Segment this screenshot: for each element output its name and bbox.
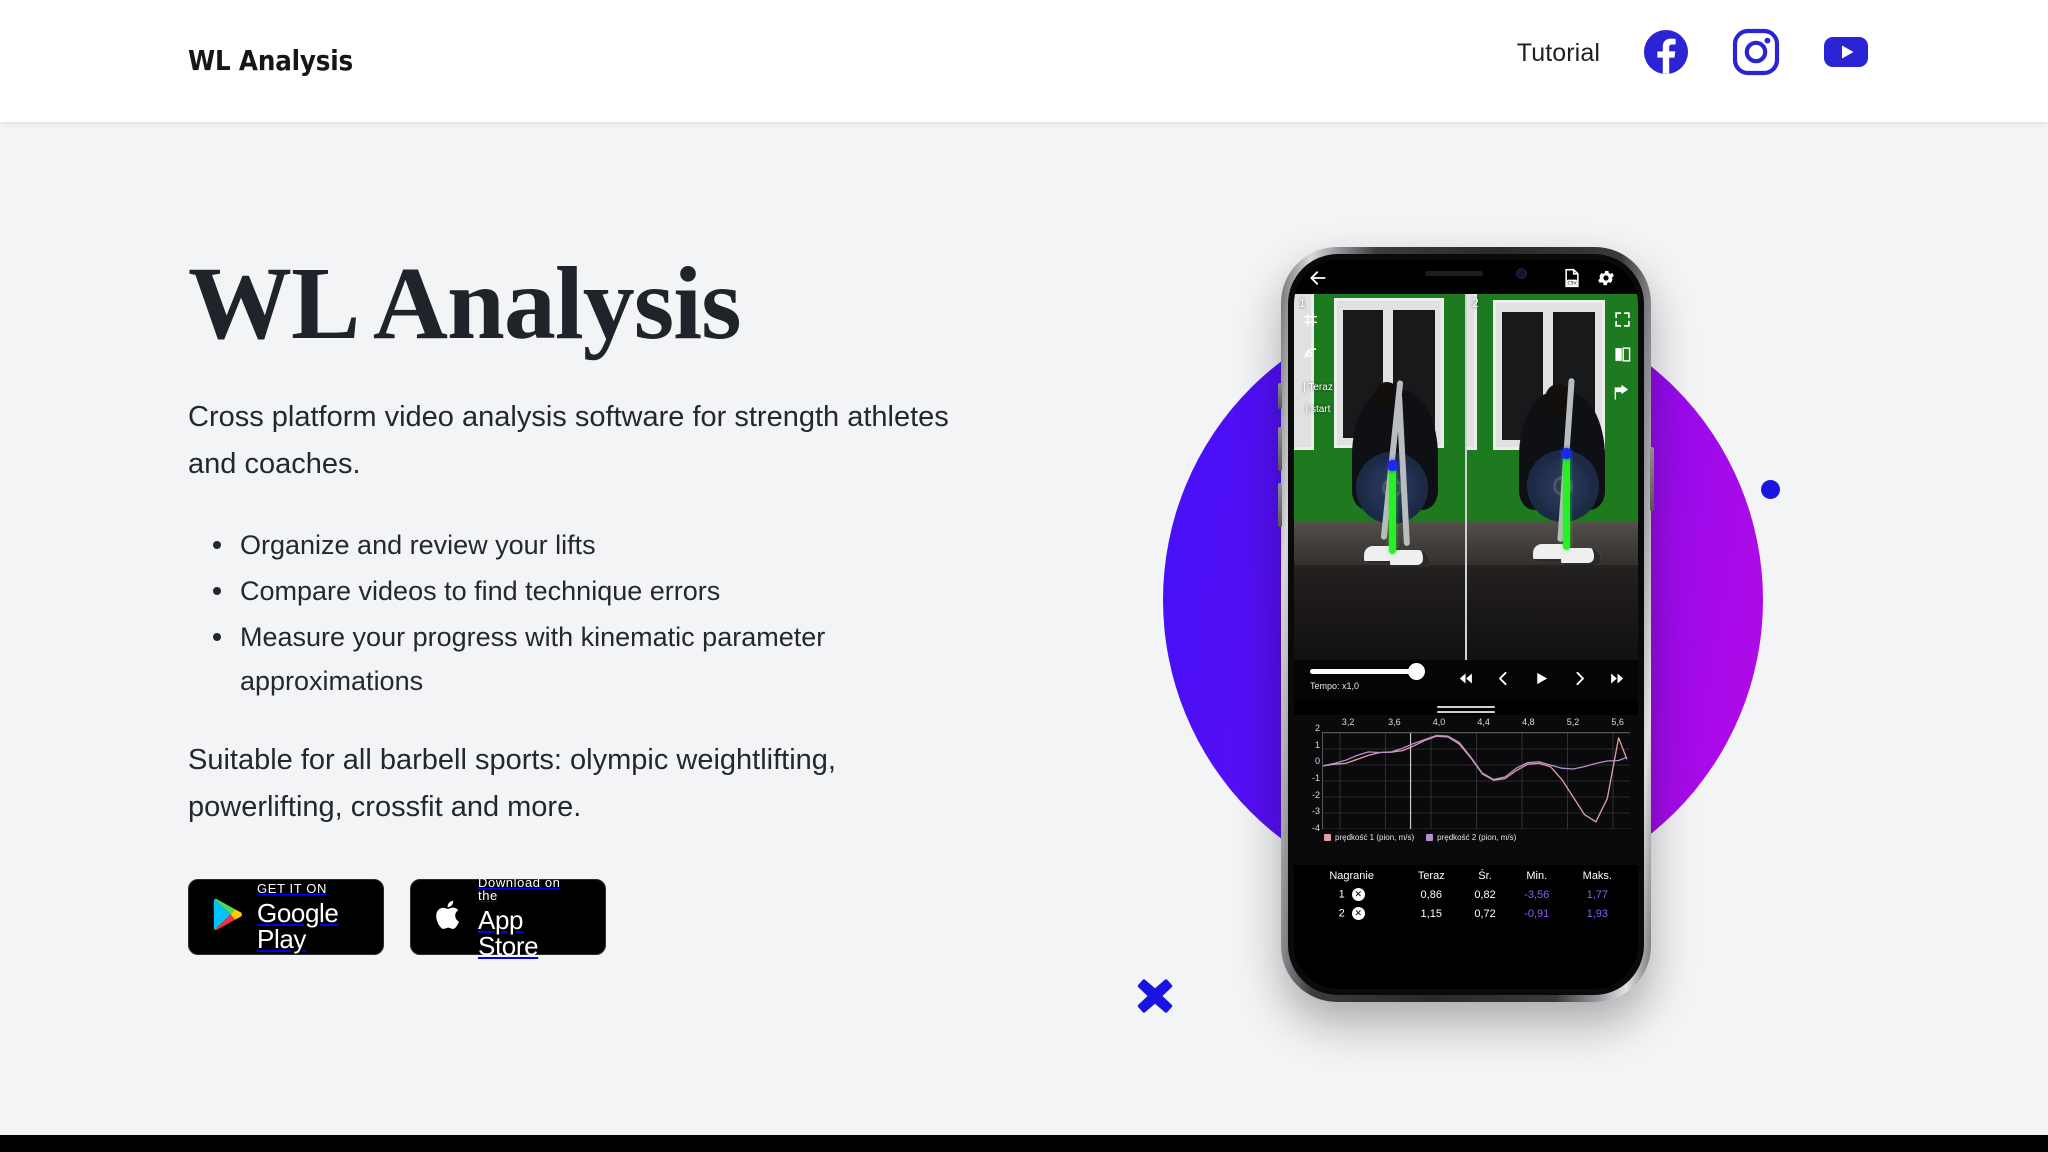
tempo-label: Tempo: x1,0 <box>1310 681 1422 691</box>
back-arrow-icon[interactable] <box>1308 268 1328 288</box>
x-tick: 4,4 <box>1477 717 1490 727</box>
column-header-nagranie: Nagranie <box>1302 868 1401 885</box>
fullscreen-icon[interactable] <box>1614 311 1631 328</box>
column-header-maks: Maks. <box>1565 868 1630 885</box>
recording-number: 1 <box>1339 888 1345 900</box>
y-tick: -4 <box>1312 823 1320 833</box>
cell-teraz: 0,86 <box>1401 885 1461 904</box>
y-tick: -1 <box>1312 773 1320 783</box>
nav-link-tutorial[interactable]: Tutorial <box>1517 37 1600 68</box>
legend-swatch <box>1324 834 1331 841</box>
stats-table: Nagranie Teraz Śr. Min. Maks. 1✕ 0,86 0,… <box>1294 868 1638 923</box>
cell-maks: 1,93 <box>1565 904 1630 923</box>
hero-note: Suitable for all barbell sports: olympic… <box>188 737 978 832</box>
instagram-icon[interactable] <box>1732 28 1780 76</box>
cell-maks: 1,77 <box>1565 885 1630 904</box>
table-header-row: Nagranie Teraz Śr. Min. Maks. <box>1302 868 1630 885</box>
phone-volume-down-button <box>1278 483 1282 527</box>
facebook-icon[interactable] <box>1642 28 1690 76</box>
bar-position-dot-1 <box>1387 460 1398 471</box>
brand-logo[interactable]: WL Analysis <box>188 44 353 77</box>
x-tick: 4,0 <box>1433 717 1446 727</box>
phone-power-button <box>1650 447 1654 511</box>
remove-recording-button[interactable]: ✕ <box>1352 907 1365 920</box>
legend-label: prędkość 2 (pion, m/s) <box>1437 833 1516 842</box>
cell-min: -3,56 <box>1509 885 1565 904</box>
nav-right-group: Tutorial <box>1517 28 1870 76</box>
hero-section: WL Analysis Cross platform video analysi… <box>0 122 2048 1135</box>
pane-number-1: 1 <box>1299 296 1306 310</box>
column-header-min: Min. <box>1509 868 1565 885</box>
tempo-slider-knob[interactable] <box>1408 663 1425 680</box>
earpiece-speaker <box>1425 271 1483 276</box>
list-item: Organize and review your lifts <box>240 523 978 567</box>
transport-buttons <box>1457 670 1626 687</box>
playback-controls-bar: Tempo: x1,0 <box>1294 660 1638 700</box>
chart-y-axis: 2 1 0 -1 -2 -3 -4 <box>1300 728 1320 828</box>
app-store-badge[interactable]: Download on the App Store <box>410 879 606 955</box>
page-title: WL Analysis <box>188 252 978 356</box>
gear-icon[interactable] <box>1596 268 1616 288</box>
bar-path-icon[interactable] <box>1302 345 1319 362</box>
table-row: 1✕ 0,86 0,82 -3,56 1,77 <box>1302 885 1630 904</box>
csv-export-icon[interactable]: CSV <box>1562 268 1582 288</box>
y-tick: 1 <box>1315 740 1320 750</box>
apple-icon <box>435 898 464 937</box>
app-store-label: Download on the App Store <box>478 876 581 959</box>
google-play-badge[interactable]: GET IT ON Google Play <box>188 879 384 955</box>
phone-screen: CSV <box>1294 260 1638 989</box>
flip-horizontal-icon[interactable] <box>1614 346 1631 363</box>
bar-path-trace-1 <box>1389 466 1396 554</box>
bar-position-dot-2 <box>1561 448 1572 459</box>
feature-list: Organize and review your lifts Compare v… <box>188 523 978 703</box>
chart-legend: prędkość 1 (pion, m/s) prędkość 2 (pion,… <box>1324 833 1516 842</box>
x-tick: 4,8 <box>1522 717 1535 727</box>
video-frame-1 <box>1294 294 1465 660</box>
overlay-label-now: | Teraz <box>1296 382 1340 394</box>
share-icon[interactable] <box>1614 384 1631 401</box>
x-tick: 5,2 <box>1567 717 1580 727</box>
video-pane-1[interactable]: 1 | Teraz | start <box>1294 294 1465 660</box>
phone-notch <box>1377 260 1555 287</box>
recording-cell: 2✕ <box>1302 904 1401 923</box>
y-tick: -2 <box>1312 790 1320 800</box>
cell-min: -0,91 <box>1509 904 1565 923</box>
skip-forward-button[interactable] <box>1609 670 1626 687</box>
phone-volume-up-button <box>1278 427 1282 471</box>
cell-sr: 0,82 <box>1461 885 1509 904</box>
skip-back-button[interactable] <box>1457 670 1474 687</box>
navbar: WL Analysis Tutorial <box>0 0 2048 122</box>
legend-label: prędkość 1 (pion, m/s) <box>1335 833 1414 842</box>
remove-recording-button[interactable]: ✕ <box>1352 888 1365 901</box>
chart-plot-area <box>1322 732 1630 829</box>
table-row: 2✕ 1,15 0,72 -0,91 1,93 <box>1302 904 1630 923</box>
legend-item-1: prędkość 1 (pion, m/s) <box>1324 833 1414 842</box>
step-back-button[interactable] <box>1495 670 1512 687</box>
x-tick: 3,2 <box>1342 717 1355 727</box>
cell-teraz: 1,15 <box>1401 904 1461 923</box>
front-camera <box>1516 268 1527 279</box>
step-forward-button[interactable] <box>1571 670 1588 687</box>
velocity-chart[interactable]: 3,2 3,6 4,0 4,4 4,8 5,2 5,6 2 1 0 -1 -2 … <box>1294 715 1638 865</box>
legend-item-2: prędkość 2 (pion, m/s) <box>1426 833 1516 842</box>
y-tick: 2 <box>1315 723 1320 733</box>
cell-sr: 0,72 <box>1461 904 1509 923</box>
list-item: Compare videos to find technique errors <box>240 569 978 613</box>
store-badges: GET IT ON Google Play Download on the Ap… <box>188 879 978 955</box>
video-pane-2[interactable]: 2 <box>1465 294 1638 660</box>
column-header-sr: Śr. <box>1461 868 1509 885</box>
y-tick: 0 <box>1315 756 1320 766</box>
bar-path-trace-2 <box>1563 454 1570 550</box>
x-tick: 3,6 <box>1388 717 1401 727</box>
app-store-big-text: App Store <box>478 907 581 959</box>
google-play-label: GET IT ON Google Play <box>257 882 359 952</box>
google-play-big-text: Google Play <box>257 900 359 952</box>
column-header-teraz: Teraz <box>1401 868 1461 885</box>
google-play-small-text: GET IT ON <box>257 882 359 895</box>
hero-content: WL Analysis Cross platform video analysi… <box>188 252 978 955</box>
legend-swatch <box>1426 834 1433 841</box>
page-footer-strip <box>0 1135 2048 1152</box>
list-item: Measure your progress with kinematic par… <box>240 615 978 703</box>
video-comparison-area[interactable]: 1 | Teraz | start <box>1294 294 1638 660</box>
grid-icon[interactable] <box>1302 311 1319 328</box>
svg-text:CSV: CSV <box>1567 280 1577 286</box>
play-button[interactable] <box>1533 670 1550 687</box>
recording-number: 2 <box>1339 907 1345 919</box>
phone-mute-switch <box>1278 383 1282 409</box>
recording-cell: 1✕ <box>1302 885 1401 904</box>
phone-mockup: CSV <box>1281 247 1651 1002</box>
overlay-label-start: | start <box>1296 404 1340 416</box>
pane-number-2: 2 <box>1472 296 1479 310</box>
youtube-icon[interactable] <box>1822 28 1870 76</box>
app-store-small-text: Download on the <box>478 876 581 902</box>
video-frame-2 <box>1467 294 1638 660</box>
blue-dot-decoration <box>1761 480 1780 499</box>
blue-x-decoration <box>1136 977 1174 1015</box>
y-tick: -3 <box>1312 806 1320 816</box>
google-play-icon <box>213 898 243 936</box>
chart-x-axis: 3,2 3,6 4,0 4,4 4,8 5,2 5,6 <box>1322 715 1630 731</box>
hero-subtitle: Cross platform video analysis software f… <box>188 394 958 489</box>
tempo-slider[interactable]: Tempo: x1,0 <box>1310 664 1422 691</box>
tempo-slider-track[interactable] <box>1310 669 1422 674</box>
x-tick: 5,6 <box>1611 717 1624 727</box>
